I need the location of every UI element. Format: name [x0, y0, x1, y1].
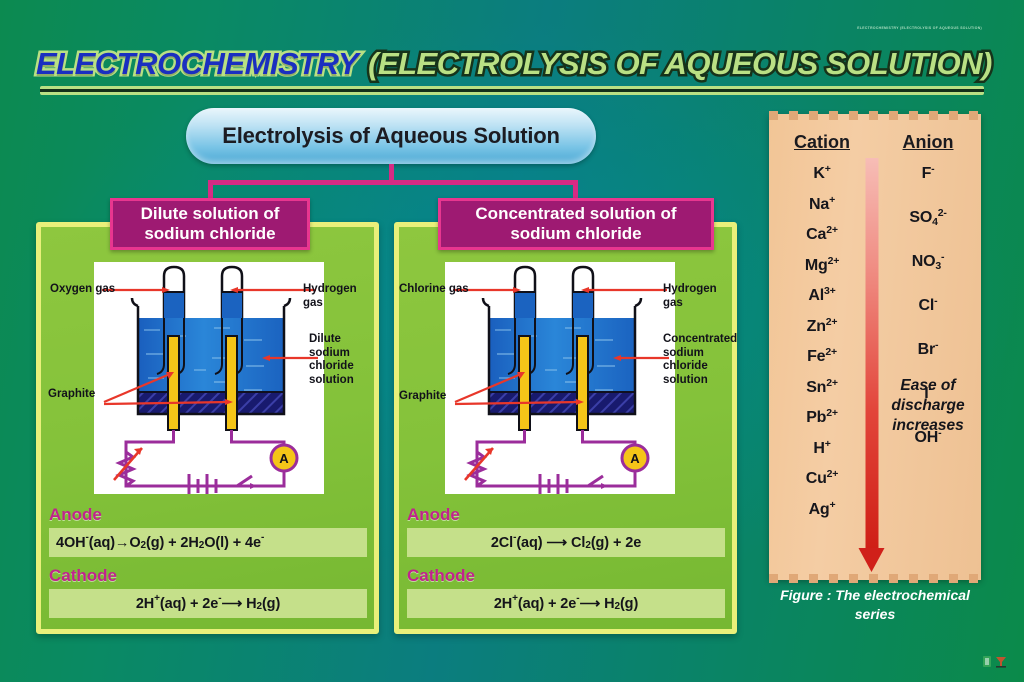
- label-solution-concentrated: Concentrated sodium chloride solution: [663, 333, 739, 387]
- electrolysis-cell-svg-left: A: [94, 262, 324, 494]
- ion-item: Cl-: [875, 297, 981, 315]
- cation-column-header: Cation: [769, 132, 875, 153]
- label-right-gas-dilute: Hydrogen gas: [303, 283, 365, 310]
- subtitle-dilute: Dilute solution of sodium chloride: [110, 198, 310, 250]
- figure-caption: Figure : The electrochemical series: [769, 586, 981, 624]
- diagram-concentrated-cell: A: [445, 262, 675, 494]
- poster-root: ELECTROCHEMISTRY (ELECTROLYSIS OF AQUEOU…: [0, 0, 1024, 682]
- label-left-gas-dilute: Oxygen gas: [50, 283, 122, 297]
- ion-item: NO3-: [875, 253, 981, 271]
- title-part-electrochemistry: ELECTROCHEMISTRY: [36, 46, 358, 81]
- title-line: ELECTROCHEMISTRY(ELECTROLYSIS OF AQUEOUS…: [36, 40, 992, 88]
- subtitle-concentrated: Concentrated solution of sodium chloride: [438, 198, 714, 250]
- cation-column: Cation K+ Na+ Ca2+ Mg2+ Al3+ Zn2+ Fe2+ S…: [769, 132, 875, 531]
- ion-item: Al3+: [769, 287, 875, 305]
- subtitle-concentrated-label: Concentrated solution of sodium chloride: [451, 204, 701, 244]
- anode-title-dilute: Anode: [49, 505, 367, 525]
- ion-item: H+: [769, 440, 875, 458]
- ion-item: Ca2+: [769, 226, 875, 244]
- label-right-gas-concentrated: Hydrogen gas: [663, 283, 725, 310]
- subtitle-dilute-label: Dilute solution of sodium chloride: [123, 204, 297, 244]
- label-left-gas-concentrated: Chlorine gas: [399, 283, 477, 297]
- electrochemical-series-scroll: Cation K+ Na+ Ca2+ Mg2+ Al3+ Zn2+ Fe2+ S…: [769, 114, 981, 580]
- anode-equation-concentrated: 2Cl-(aq) ⟶ Cl2(g) + 2e: [407, 528, 725, 557]
- publisher-logo-icon: [982, 654, 1008, 668]
- watermark-text: ELECTROCHEMISTRY (ELECTROLYSIS OF AQUEOU…: [857, 26, 982, 30]
- anode-equation-dilute: 4OH-(aq)→O2(g) + 2H2O(l) + 4e-: [49, 528, 367, 557]
- ease-of-discharge-label: Ease of discharge increases: [875, 376, 981, 436]
- title-part-subject: (ELECTROLYSIS OF AQUEOUS SOLUTION): [368, 46, 992, 81]
- ion-item: Na+: [769, 196, 875, 214]
- svg-text:A: A: [279, 451, 289, 466]
- ion-item: Cu2+: [769, 470, 875, 488]
- label-solution-dilute: Dilute sodium chloride solution: [309, 333, 371, 387]
- ion-item: K+: [769, 165, 875, 183]
- label-electrode-concentrated: Graphite: [399, 390, 461, 404]
- poster-title: ELECTROCHEMISTRY(ELECTROLYSIS OF AQUEOUS…: [36, 40, 988, 88]
- ion-item: Zn2+: [769, 318, 875, 336]
- equations-dilute: Anode 4OH-(aq)→O2(g) + 2H2O(l) + 4e- Cat…: [49, 505, 367, 627]
- ion-item: Fe2+: [769, 348, 875, 366]
- ion-item: Ag+: [769, 501, 875, 519]
- label-electrode-dilute: Graphite: [48, 388, 110, 402]
- title-underline-rule: [40, 86, 984, 95]
- ion-item: F-: [875, 165, 981, 183]
- cathode-title-concentrated: Cathode: [407, 566, 725, 586]
- cathode-equation-dilute: 2H+(aq) + 2e- ⟶ H2(g): [49, 589, 367, 618]
- ion-item: SO42-: [875, 209, 981, 227]
- anode-title-concentrated: Anode: [407, 505, 725, 525]
- electrolysis-cell-svg-right: A: [445, 262, 675, 494]
- cathode-equation-concentrated: 2H+(aq) + 2e- ⟶ H2(g): [407, 589, 725, 618]
- diagram-dilute-cell: A: [94, 262, 324, 494]
- arrow-head-icon: [859, 548, 885, 572]
- ion-item: Sn2+: [769, 379, 875, 397]
- main-heading-label: Electrolysis of Aqueous Solution: [222, 123, 560, 149]
- equations-concentrated: Anode 2Cl-(aq) ⟶ Cl2(g) + 2e Cathode 2H+…: [407, 505, 725, 627]
- connector-stem: [389, 164, 394, 180]
- main-heading-pill: Electrolysis of Aqueous Solution: [186, 108, 596, 164]
- anion-column-header: Anion: [875, 132, 981, 153]
- ion-item: Pb2+: [769, 409, 875, 427]
- cathode-title-dilute: Cathode: [49, 566, 367, 586]
- svg-text:A: A: [630, 451, 640, 466]
- ion-item: Mg2+: [769, 257, 875, 275]
- ion-item: Br-: [875, 341, 981, 359]
- connector-bar: [208, 180, 578, 185]
